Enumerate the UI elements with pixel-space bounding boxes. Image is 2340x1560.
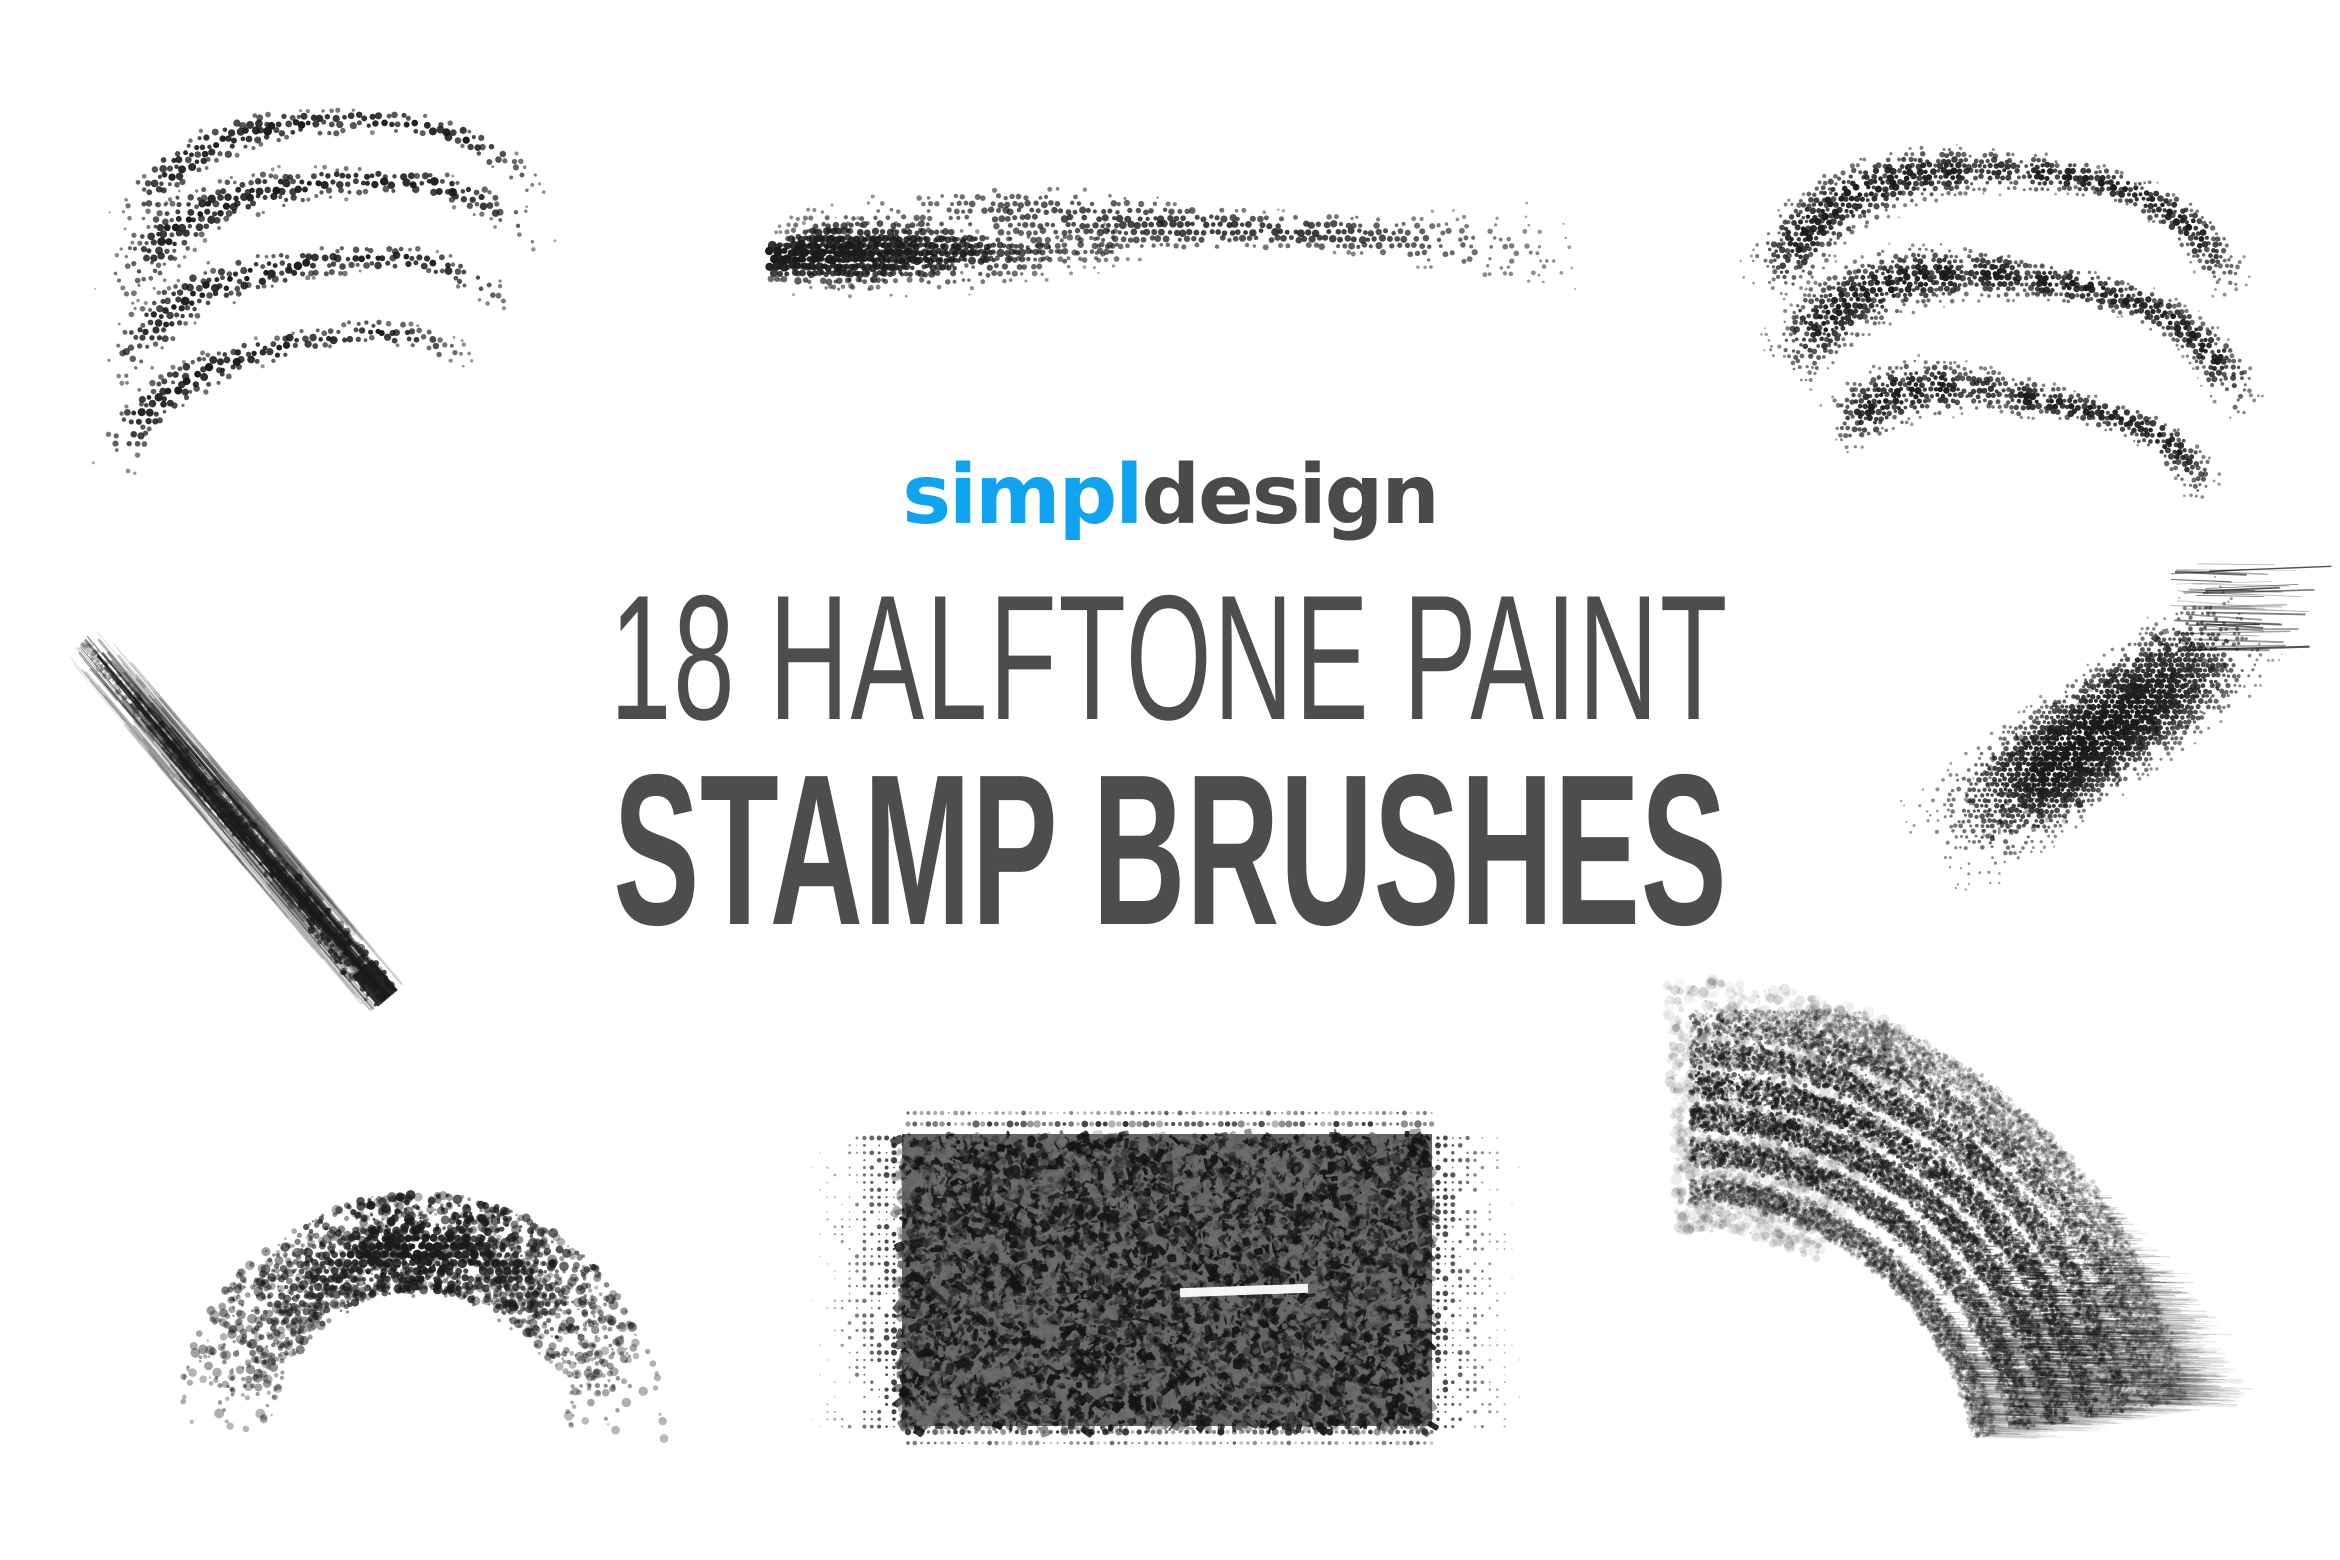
- textured-slab-art: [1870, 530, 2300, 940]
- textured-rectangle-art: [850, 1090, 1490, 1470]
- logo-secondary-text: design: [1141, 448, 1437, 543]
- brush-stroke-top-center: [770, 170, 1580, 350]
- poster-canvas: simpldesign 18 HALFTONE PAINT STAMP BRUS…: [0, 0, 2340, 1560]
- brush-stroke-top-left: [95, 50, 655, 530]
- headline-line-1: 18 HALFTONE PAINT: [610, 573, 1729, 742]
- halftone-bar-art: [770, 170, 1580, 350]
- brush-stroke-top-right: [1700, 110, 2260, 510]
- dense-halftone-arc-art: [1700, 110, 2260, 510]
- headline-line-2: STAMP BRUSHES: [613, 748, 1727, 952]
- logo-primary-text: simpl: [902, 448, 1141, 543]
- halftone-sweep-art: [95, 50, 655, 530]
- brush-stroke-bottom-center: [850, 1090, 1490, 1470]
- brand-logo[interactable]: simpldesign: [902, 455, 1437, 537]
- halftone-arch-art: [130, 1140, 720, 1470]
- brush-stroke-mid-right: [1870, 530, 2300, 940]
- dry-brush-streak-art: [55, 610, 455, 1020]
- brush-stroke-mid-left: [55, 610, 455, 1020]
- brush-stroke-bottom-right: [1700, 1020, 2310, 1500]
- speed-fan-arc-art: [1700, 1020, 2310, 1500]
- brush-stroke-bottom-left: [130, 1140, 720, 1470]
